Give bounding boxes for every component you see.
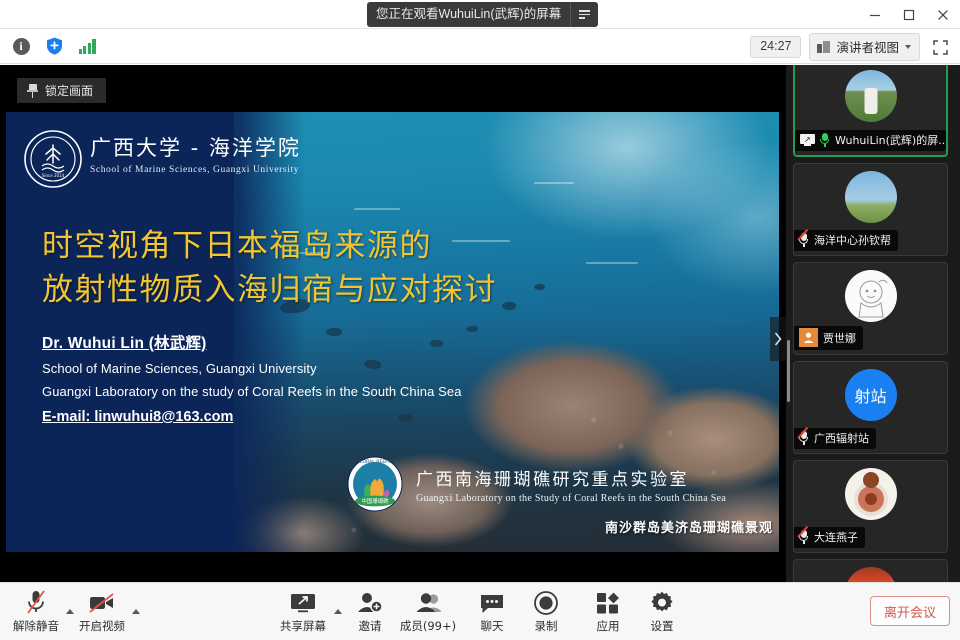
invite-button[interactable]: 邀请 (338, 589, 402, 634)
shield-icon[interactable] (42, 34, 66, 58)
author-email: E-mail: linwuhui8@163.com (42, 409, 462, 425)
affiliation-line-1: School of Marine Sciences, Guangxi Unive… (42, 361, 462, 376)
participants-button[interactable]: 成员(99+) (396, 589, 460, 634)
lab-footer: CORAL REEFS 中国珊瑚礁 广西南海珊瑚礁研究重点实验室 Guangxi… (346, 455, 726, 513)
share-screen-icon: ↗ (800, 134, 815, 147)
slide-title: 时空视角下日本福岛来源的 放射性物质入海归宿与应对探讨 (42, 224, 497, 312)
avatar (845, 171, 897, 223)
shared-screen-stage: 锁定画面 Since 2014 (0, 65, 786, 582)
mic-muted-icon (799, 431, 809, 445)
participant-name: 海洋中心孙钦帮 (814, 232, 891, 248)
avatar (845, 70, 897, 122)
strip-scrollbar[interactable] (787, 340, 790, 402)
lock-screen-button[interactable]: 锁定画面 (17, 78, 106, 103)
record-label: 录制 (535, 618, 558, 634)
lab-name-en: Guangxi Laboratory on the Study of Coral… (416, 493, 726, 504)
participant-namebar: 海洋中心孙钦帮 (794, 230, 898, 251)
title-bar: 您正在观看WuhuiLin(武辉)的屏幕 (0, 0, 960, 29)
zoom-meeting-window: 您正在观看WuhuiLin(武辉)的屏幕 i (0, 0, 960, 640)
screen-share-notice-label: 您正在观看WuhuiLin(武辉)的屏幕 (376, 2, 570, 27)
leave-meeting-button[interactable]: 离开会议 (870, 596, 950, 626)
share-screen-label: 共享屏幕 (280, 618, 326, 634)
participant-name: 大连燕子 (814, 529, 858, 545)
meeting-controls-bar: 解除静音 开启视频 共享屏幕 (0, 582, 960, 640)
layout-icon (817, 41, 830, 53)
participant-namebar: 贾世娜 (794, 326, 863, 350)
chevron-down-icon (905, 45, 911, 49)
avatar-initials: 射站 (854, 383, 886, 407)
user-avatar-icon (799, 328, 818, 347)
presentation-slide: Since 2014 广西大学 - 海洋学院 School of Marine … (6, 112, 779, 552)
start-video-button[interactable]: 开启视频 (70, 589, 134, 634)
avatar: 射站 (845, 369, 897, 421)
pin-icon (27, 84, 38, 98)
settings-label: 设置 (651, 618, 674, 634)
university-name-cn: 广西大学 - 海洋学院 (90, 132, 301, 162)
toolbar-left-group: i (9, 34, 99, 58)
apps-label: 应用 (597, 618, 620, 634)
participant-tile[interactable]: 射站 广西辐射站 (793, 361, 948, 454)
author-name: Dr. Wuhui Lin (林武辉) (42, 331, 462, 353)
minimize-icon[interactable] (858, 0, 892, 29)
university-logo: Since 2014 (24, 130, 82, 188)
camera-off-icon (88, 589, 116, 615)
record-button[interactable]: 录制 (514, 589, 578, 634)
toolbar-right-group: 24:27 演讲者视图 (750, 33, 952, 61)
participants-icon (415, 589, 441, 615)
participant-strip: ↗ WuhuiLin(武辉)的屏... 海洋中心孙钦帮 (786, 65, 960, 582)
affiliation-line-2: Guangxi Laboratory on the study of Coral… (42, 384, 462, 399)
leave-meeting-label: 离开会议 (884, 602, 936, 621)
mic-muted-icon (799, 530, 809, 544)
coral-lab-logo: CORAL REEFS 中国珊瑚礁 (346, 455, 404, 513)
participants-label: 成员(99+) (400, 618, 456, 634)
participant-tile[interactable]: ↗ WuhuiLin(武辉)的屏... (793, 65, 948, 157)
lab-name-block: 广西南海珊瑚礁研究重点实验室 Guangxi Laboratory on the… (416, 465, 726, 504)
close-icon[interactable] (926, 0, 960, 29)
svg-text:Since 2014: Since 2014 (42, 173, 65, 178)
slide-title-line1: 时空视角下日本福岛来源的 (42, 224, 497, 268)
meeting-timer: 24:27 (750, 36, 801, 58)
screen-share-notice: 您正在观看WuhuiLin(武辉)的屏幕 (367, 2, 598, 27)
unmute-button[interactable]: 解除静音 (4, 589, 68, 634)
view-mode-dropdown[interactable]: 演讲者视图 (809, 33, 920, 61)
meeting-toolbar: i 24:27 演讲者视图 (0, 29, 960, 64)
participant-name: 贾世娜 (823, 330, 856, 346)
participant-namebar: 大连燕子 (794, 527, 865, 548)
participant-tile[interactable]: 贾世娜 (793, 262, 948, 355)
fullscreen-icon[interactable] (928, 36, 952, 58)
share-screen-button[interactable]: 共享屏幕 (271, 589, 335, 634)
photo-caption: 南沙群岛美济岛珊瑚礁景观 (605, 517, 773, 536)
unmute-label: 解除静音 (13, 618, 59, 634)
chat-label: 聊天 (481, 618, 504, 634)
mic-on-icon (820, 133, 830, 147)
invite-label: 邀请 (359, 618, 382, 634)
participant-name: 广西辐射站 (814, 430, 869, 446)
avatar (845, 270, 897, 322)
hamburger-icon[interactable] (571, 2, 598, 27)
svg-text:中国珊瑚礁: 中国珊瑚礁 (362, 497, 390, 505)
participant-namebar: ↗ WuhuiLin(武辉)的屏... (795, 130, 946, 151)
mic-muted-icon (799, 233, 809, 247)
signal-bars-icon[interactable] (75, 34, 99, 58)
participant-namebar: 广西辐射站 (794, 428, 876, 449)
lock-screen-label: 锁定画面 (45, 82, 93, 99)
invite-user-icon (357, 589, 383, 615)
university-name-en: School of Marine Sciences, Guangxi Unive… (90, 165, 301, 175)
view-mode-label: 演讲者视图 (836, 37, 899, 56)
author-block: Dr. Wuhui Lin (林武辉) School of Marine Sci… (42, 331, 462, 425)
chat-icon (479, 589, 505, 615)
video-options-caret[interactable] (128, 603, 144, 619)
info-icon[interactable]: i (9, 34, 33, 58)
maximize-icon[interactable] (892, 0, 926, 29)
participant-tile[interactable]: 海洋中心孙钦帮 (793, 163, 948, 256)
participant-tile[interactable] (793, 559, 948, 582)
avatar (845, 468, 897, 520)
record-icon (534, 589, 558, 615)
share-screen-icon (289, 589, 317, 615)
settings-button[interactable]: 设置 (630, 589, 694, 634)
start-video-label: 开启视频 (79, 618, 125, 634)
university-name-block: 广西大学 - 海洋学院 School of Marine Sciences, G… (90, 132, 301, 175)
apps-icon (596, 589, 620, 615)
lab-name-cn: 广西南海珊瑚礁研究重点实验室 (416, 465, 726, 490)
gear-icon (650, 589, 674, 615)
participant-name: WuhuiLin(武辉)的屏... (835, 132, 948, 148)
mic-muted-icon (25, 589, 47, 615)
svg-text:CORAL REEFS: CORAL REEFS (359, 459, 391, 465)
avatar (845, 567, 897, 582)
slide-title-line2: 放射性物质入海归宿与应对探讨 (42, 268, 497, 312)
chevron-right-icon[interactable] (770, 317, 786, 361)
participant-tile[interactable]: 大连燕子 (793, 460, 948, 553)
